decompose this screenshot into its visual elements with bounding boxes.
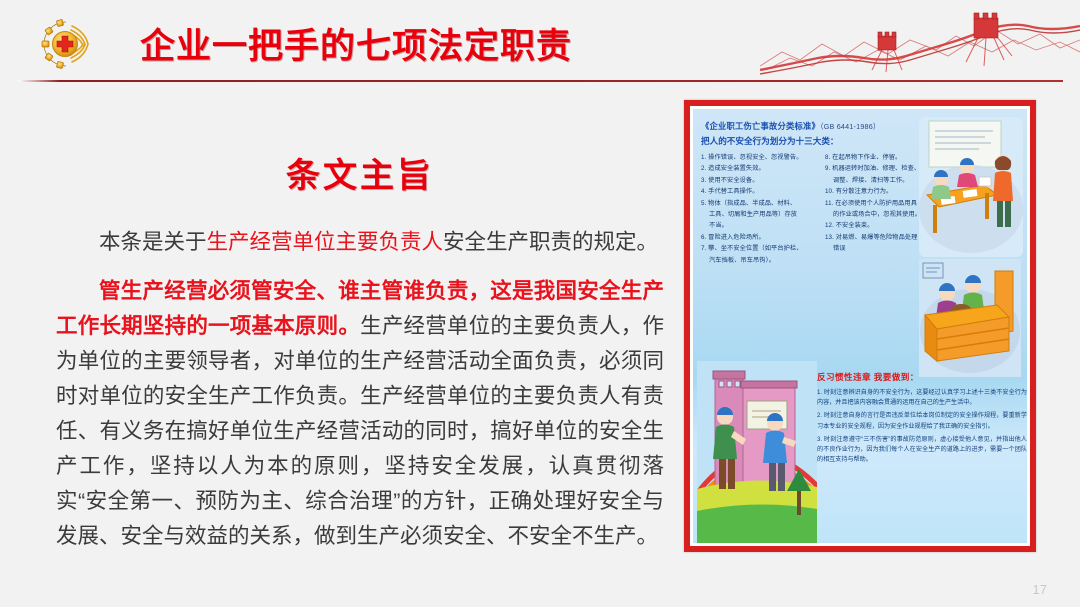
list-item: 3. 时刻注意遵守“三不伤害”的事故防范原则，虚心接受他人意见，并指出他人的不良… <box>817 435 1027 466</box>
para1-post: 安全生产职责的规定。 <box>443 230 658 254</box>
para1-pre: 本条是关于 <box>99 230 207 254</box>
poster-inner-frame: 《企业职工伤亡事故分类标准》（GB 6441-1986） 把人的不安全行为划分为… <box>690 106 1030 546</box>
header-divider <box>18 80 1063 82</box>
workbench-workers-illustration <box>919 259 1021 377</box>
poster-list-left: 1. 操作错误、忽视安全、忽视警告。 2. 造成安全装置失效。 3. 使用不安全… <box>701 153 819 267</box>
list-item: 2. 时刻注意自身的言行是否违反单位给本岗位制定的安全操作规程，要重新学习本专业… <box>817 411 1027 431</box>
poster-bottom-block: 反习惯性违章 我要做到： 1. 时刻注意辨识自身的不安全行为，这要经过认真学习上… <box>817 371 1027 468</box>
list-item: 工具、切屑和生产用品等）存放 <box>701 210 819 220</box>
safety-training-poster: 《企业职工伤亡事故分类标准》（GB 6441-1986） 把人的不安全行为划分为… <box>684 100 1036 552</box>
page-title: 企业一把手的七项法定职责 <box>140 18 572 69</box>
paragraph-scope: 本条是关于生产经营单位主要负责人安全生产职责的规定。 <box>56 225 664 260</box>
list-item: 不当。 <box>701 221 819 231</box>
slide: 企业一把手的七项法定职责 <box>0 0 1080 607</box>
para1-highlight: 生产经营单位主要负责人 <box>207 230 444 254</box>
list-item: 3. 使用不安全设备。 <box>701 176 819 186</box>
section-title: 条文主旨 <box>56 148 664 197</box>
poster-subtitle: 把人的不安全行为划分为十三大类： <box>701 135 931 147</box>
poster-standard-code: （GB 6441-1986） <box>820 122 880 131</box>
poster-lists: 1. 操作错误、忽视安全、忽视警告。 2. 造成安全装置失效。 3. 使用不安全… <box>701 153 944 267</box>
great-wall-decoration-icon <box>760 0 1080 78</box>
poster-heading: 《企业职工伤亡事故分类标准》（GB 6441-1986） 把人的不安全行为划分为… <box>701 120 931 147</box>
slide-header: 企业一把手的七项法定职责 <box>0 0 1080 84</box>
paragraph-principle: 管生产经营必须管安全、谁主管谁负责，这是我国安全生产工作长期坚持的一项基本原则。… <box>56 274 664 554</box>
factory-yard-workers-illustration <box>697 361 817 543</box>
list-item: 1. 操作错误、忽视安全、忽视警告。 <box>701 153 819 163</box>
list-item: 5. 物体（指成品、半成品、材料、 <box>701 199 819 209</box>
poster-standard-name: 《企业职工伤亡事故分类标准》 <box>701 121 820 131</box>
content-column: 条文主旨 本条是关于生产经营单位主要负责人安全生产职责的规定。 管生产经营必须管… <box>56 120 664 558</box>
page-number: 17 <box>1033 582 1047 597</box>
poster-bottom-title: 反习惯性违章 我要做到： <box>817 371 1027 383</box>
poster-standard-title: 《企业职工伤亡事故分类标准》（GB 6441-1986） <box>701 120 931 132</box>
list-item: 7. 攀、坐不安全位置（如平台护栏、 <box>701 244 819 254</box>
safety-production-emblem-icon <box>38 16 94 72</box>
list-item: 1. 时刻注意辨识自身的不安全行为，这要经过认真学习上述十三类不安全行为内容，并… <box>817 388 1027 408</box>
list-item: 汽车挡板、吊车吊钩）。 <box>701 256 819 266</box>
list-item: 4. 手代替工具操作。 <box>701 187 819 197</box>
list-item: 2. 造成安全装置失效。 <box>701 164 819 174</box>
list-item: 6. 冒险进入危险场所。 <box>701 233 819 243</box>
poster-canvas: 《企业职工伤亡事故分类标准》（GB 6441-1986） 把人的不安全行为划分为… <box>693 109 1027 543</box>
para2-rest: 生产经营单位的主要负责人，作为单位的主要领导者，对单位的生产经营活动全面负责，必… <box>56 314 664 548</box>
classroom-training-illustration <box>919 117 1023 257</box>
